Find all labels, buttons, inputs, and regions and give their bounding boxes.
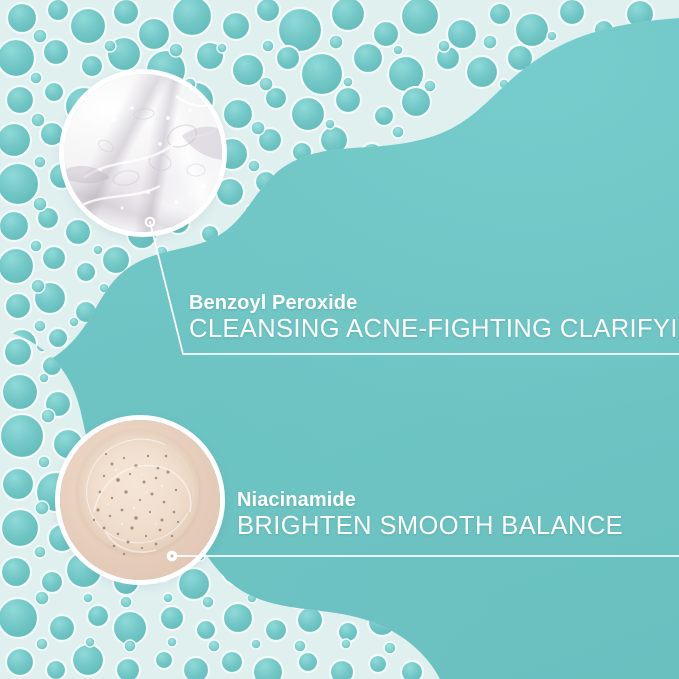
ingredient-title-benzoyl-peroxide: Benzoyl Peroxide	[189, 292, 679, 314]
ingredient-label-niacinamide: Niacinamide BRIGHTEN SMOOTH BALANCE	[237, 489, 623, 541]
benzoyl-peroxide-swatch	[64, 74, 222, 232]
product-ingredient-infographic: Benzoyl Peroxide CLEANSING ACNE-FIGHTING…	[0, 0, 679, 679]
ingredient-label-benzoyl-peroxide: Benzoyl Peroxide CLEANSING ACNE-FIGHTING…	[189, 292, 679, 344]
ingredient-benefits-niacinamide: BRIGHTEN SMOOTH BALANCE	[237, 511, 623, 541]
niacinamide-swatch	[60, 420, 220, 580]
cream-speckles	[60, 420, 220, 580]
gel-droplets	[64, 74, 222, 232]
ingredient-benefits-benzoyl-peroxide: CLEANSING ACNE-FIGHTING CLARIFYING	[189, 314, 679, 344]
ingredient-title-niacinamide: Niacinamide	[237, 489, 623, 511]
